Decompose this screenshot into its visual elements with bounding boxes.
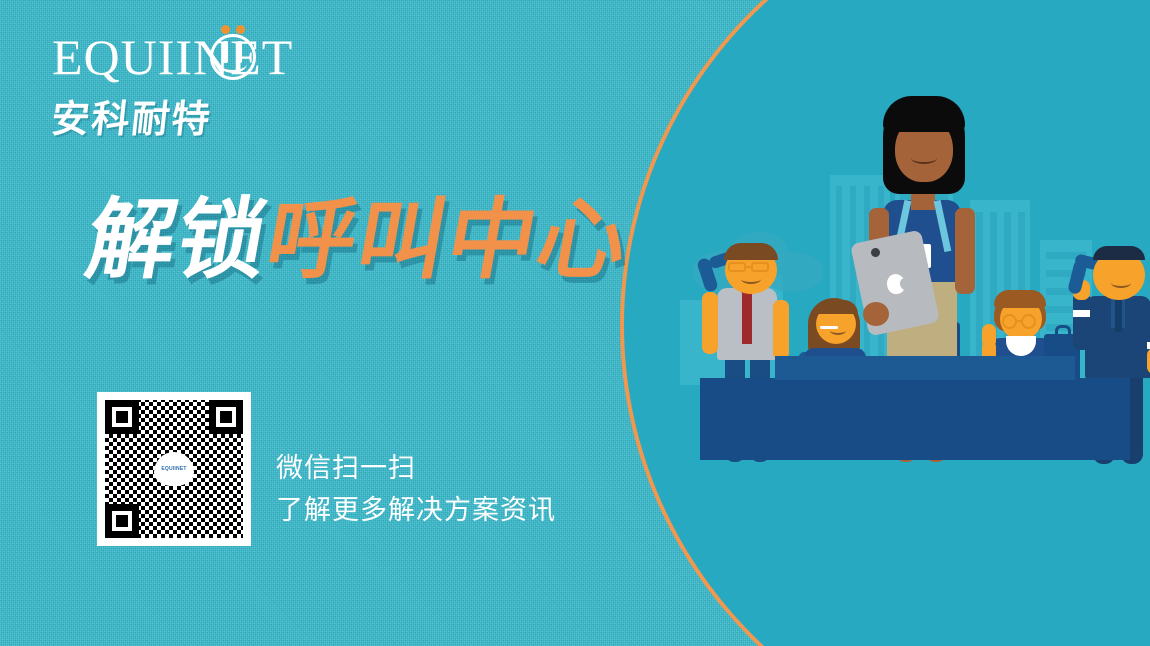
headline-part-white: 解锁 (79, 188, 277, 291)
wechat-qr-code[interactable]: EQUIINET (97, 392, 251, 546)
qr-caption: 微信扫一扫 了解更多解决方案资讯 (276, 448, 556, 532)
qr-center-logo: EQUIINET (154, 452, 194, 486)
logo-wordmark: EQUIINET (52, 28, 352, 84)
brand-logo: EQUIINET 安科耐特 (52, 28, 352, 138)
smiley-eye-left (221, 25, 230, 34)
page-title: 解锁呼叫中心 (80, 196, 636, 284)
qr-caption-line-2: 了解更多解决方案资讯 (276, 490, 556, 532)
smiley-mouth (219, 54, 247, 73)
qr-caption-line-1: 微信扫一扫 (276, 448, 556, 490)
poster-canvas: EQUIINET 安科耐特 解锁呼叫中心 EQUIINET 微信扫一扫 了解更多… (0, 0, 1150, 646)
logo-chinese-name: 安科耐特 (49, 88, 355, 143)
qr-finder-top-left (105, 400, 139, 434)
headline-part-orange: 呼叫中心 (259, 188, 637, 291)
logo-wordmark-text: EQUIINET (52, 28, 293, 86)
qr-center-logo-text: EQUIINET (161, 466, 186, 472)
smiley-eye-right (236, 25, 245, 34)
qr-finder-bottom-left (105, 504, 139, 538)
qr-finder-top-right (209, 400, 243, 434)
decorative-orange-arc (620, 0, 1150, 646)
smiley-face-icon (210, 34, 256, 80)
